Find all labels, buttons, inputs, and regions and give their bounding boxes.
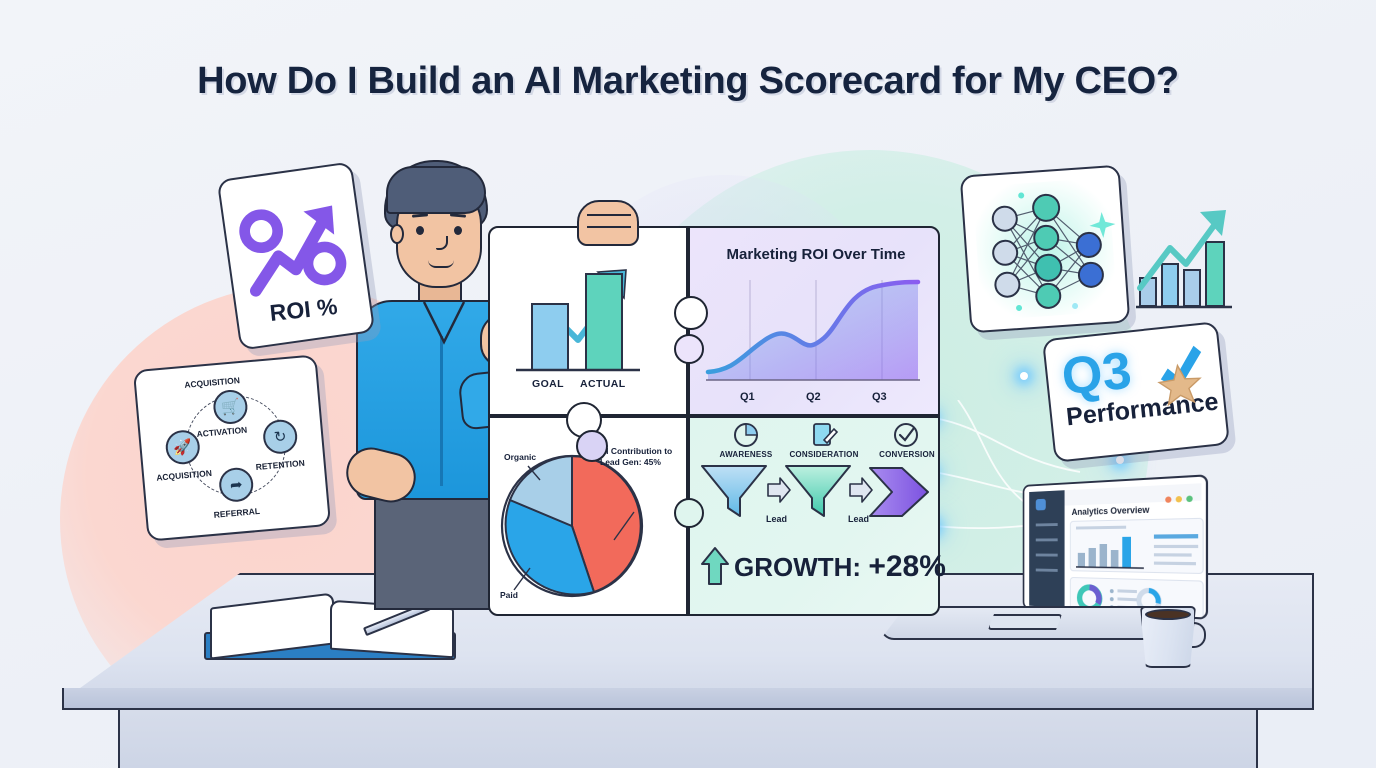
person-shirt-placket: [440, 336, 443, 486]
laptop-app-sidebar[interactable]: [1029, 490, 1064, 607]
lifecycle-card: ACQUISITION 🛒 ACTIVATION ↻ RETENTION ➦ R…: [133, 354, 331, 541]
bar-actual: [586, 274, 622, 370]
roi-percent-card: ROI %: [217, 161, 376, 350]
puzzle-piece-line-chart[interactable]: Marketing ROI Over Time Q: [688, 226, 940, 416]
puzzle-knob-left-vertical-2: [576, 430, 608, 462]
up-arrow-icon: [700, 546, 730, 586]
person-eye-left: [416, 226, 424, 235]
goal-actual-bar-chart: [490, 236, 686, 382]
puzzle-knob-top-middle-2: [674, 334, 704, 364]
lifecycle-label-acquisition-top: ACQUISITION: [184, 375, 240, 390]
growth-label: GROWTH:: [734, 552, 861, 582]
pie-label-ai-contribution: AI Contribution to Lead Gen: 45%: [600, 446, 692, 467]
bar-label-actual: ACTUAL: [580, 378, 626, 390]
funnel-connector-label-1: Lead: [766, 514, 787, 524]
puzzle-knob-bottom-middle: [674, 498, 704, 528]
funnel-stage-label-conversion: CONVERSION: [864, 450, 950, 459]
window-dot-close[interactable]: [1165, 496, 1171, 503]
lifecycle-label-referral: REFERRAL: [213, 506, 260, 520]
window-dot-minimize[interactable]: [1176, 496, 1182, 503]
line-chart-tick-q1: Q1: [740, 391, 755, 403]
bar-goal: [532, 304, 568, 370]
q3-performance-card: Q3 Performance: [1042, 321, 1230, 463]
page-title: How Do I Build an AI Marketing Scorecard…: [0, 60, 1376, 103]
puzzle-piece-bar-chart[interactable]: GOAL ACTUAL: [488, 226, 688, 416]
puzzle-knob-top-middle: [674, 296, 708, 330]
pie-label-organic: Organic: [504, 452, 536, 463]
check-circle-icon: [886, 420, 926, 450]
funnel-connector-label-2: Lead: [848, 514, 869, 524]
window-dot-maximize[interactable]: [1186, 495, 1192, 502]
mug-coffee-surface: [1145, 609, 1191, 620]
neural-network-icon: [962, 167, 1128, 332]
person-hand-grip: [577, 200, 639, 246]
funnel-stage-label-consideration: CONSIDERATION: [776, 450, 872, 459]
person-hair-front: [386, 166, 486, 214]
laptop-trackpad: [988, 614, 1062, 630]
pie-chart-icon: [726, 420, 766, 450]
growth-bar-chart-icon: [1132, 198, 1236, 316]
laptop-bar-chart: [1076, 535, 1146, 570]
funnel-shapes: [690, 462, 940, 536]
illustration-canvas: How Do I Build an AI Marketing Scorecard…: [0, 0, 1376, 768]
pie-label-paid: Paid: [500, 590, 518, 601]
scorecard-puzzle-board: Marketing ROI Over Time Q: [488, 226, 940, 616]
person-eye-right: [454, 226, 462, 235]
desk-edge: [62, 688, 1314, 710]
q3-badge-icons: [1142, 330, 1219, 409]
glow-dot: [1116, 456, 1124, 464]
person-ear: [390, 224, 404, 244]
laptop-window-title: Analytics Overview: [1072, 505, 1150, 517]
growth-value: +28%: [868, 550, 946, 583]
document-edit-icon: [804, 420, 844, 450]
person-mouth: [428, 260, 454, 268]
star-icon: [1158, 363, 1203, 405]
neural-network-card: [960, 165, 1131, 334]
desk-leg: [118, 710, 1258, 768]
line-chart-tick-q3: Q3: [872, 391, 887, 403]
line-chart-title: Marketing ROI Over Time: [706, 246, 926, 263]
laptop-chart-panel: [1070, 518, 1204, 574]
puzzle-piece-funnel[interactable]: AWARENESS CONSIDERATION CONVERSION: [688, 416, 940, 616]
laptop-window-titlebar: [1065, 483, 1202, 505]
line-chart-tick-q2: Q2: [806, 391, 821, 403]
coffee-mug: [1140, 606, 1204, 674]
bar-label-goal: GOAL: [532, 378, 564, 390]
glow-dot: [1020, 372, 1028, 380]
growth-metric: GROWTH: +28%: [734, 550, 946, 584]
laptop-screen[interactable]: Analytics Overview: [1023, 474, 1208, 620]
